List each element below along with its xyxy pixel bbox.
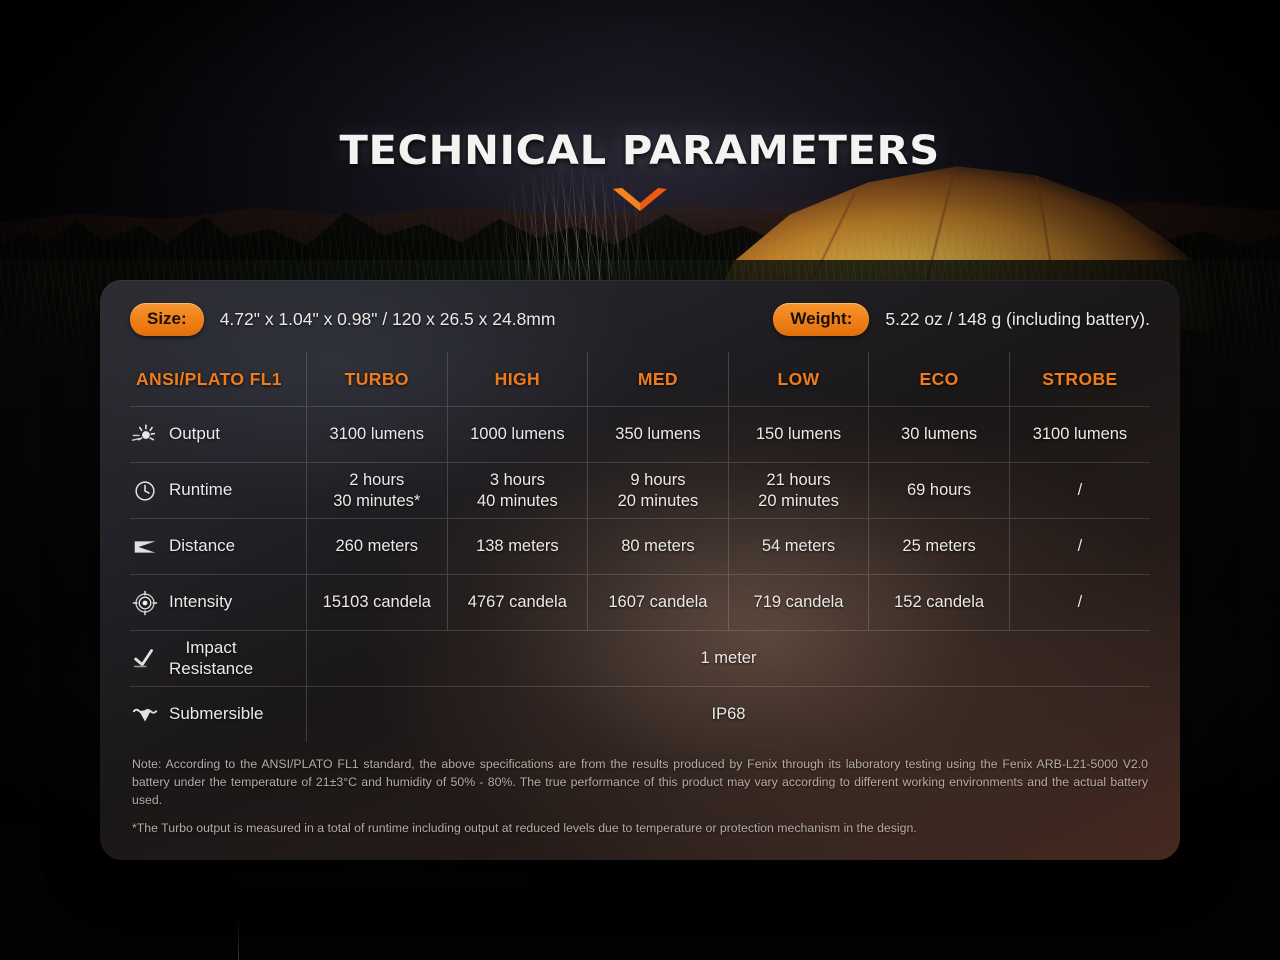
- row-label-text: Distance: [169, 536, 235, 557]
- row-label-impact-resistance: Impact Resistance: [130, 631, 306, 687]
- cell-intensity-high: 4767 candela: [447, 575, 588, 631]
- size-weight-strip: Size: 4.72" x 1.04" x 0.98" / 120 x 26.5…: [130, 280, 1150, 352]
- cell-distance-turbo: 260 meters: [306, 519, 447, 575]
- table-header-med: MED: [588, 352, 729, 407]
- table-row: Runtime 2 hours 30 minutes* 3 hours 40 m…: [130, 463, 1150, 519]
- beam-distance-icon: [130, 532, 160, 562]
- row-label-text: Runtime: [169, 480, 232, 501]
- table-header-low: LOW: [728, 352, 869, 407]
- cell-output-strobe: 3100 lumens: [1009, 407, 1150, 463]
- cell-intensity-eco: 152 candela: [869, 575, 1010, 631]
- note-main: Note: According to the ANSI/PLATO FL1 st…: [132, 756, 1148, 809]
- cell-intensity-med: 1607 candela: [588, 575, 729, 631]
- table-row: Impact Resistance 1 meter: [130, 631, 1150, 687]
- cell-distance-strobe: /: [1009, 519, 1150, 575]
- note-asterisk: *The Turbo output is measured in a total…: [132, 820, 1148, 838]
- cell-output-turbo: 3100 lumens: [306, 407, 447, 463]
- specs-panel: Size: 4.72" x 1.04" x 0.98" / 120 x 26.5…: [100, 280, 1180, 860]
- cell-distance-high: 138 meters: [447, 519, 588, 575]
- cell-submersible-value: IP68: [306, 687, 1150, 743]
- clock-icon: [130, 476, 160, 506]
- row-label-text: Intensity: [169, 592, 232, 613]
- size-spec: Size: 4.72" x 1.04" x 0.98" / 120 x 26.5…: [130, 303, 555, 336]
- table-header-row: ANSI/PLATO FL1 TURBO HIGH MED LOW ECO ST…: [130, 352, 1150, 407]
- impact-arrow-icon: [130, 644, 160, 674]
- weight-value: 5.22 oz / 148 g (including battery).: [885, 309, 1150, 330]
- row-label-text: Impact Resistance: [169, 638, 253, 679]
- row-label-intensity: Intensity: [130, 575, 306, 631]
- cell-output-med: 350 lumens: [588, 407, 729, 463]
- cell-distance-eco: 25 meters: [869, 519, 1010, 575]
- weight-spec: Weight: 5.22 oz / 148 g (including batte…: [773, 303, 1150, 336]
- cell-runtime-med: 9 hours 20 minutes: [588, 463, 729, 519]
- table-header-standard: ANSI/PLATO FL1: [130, 352, 306, 407]
- chevron-down-icon: [611, 186, 669, 216]
- target-intensity-icon: [130, 588, 160, 618]
- table-row: Submersible IP68: [130, 687, 1150, 743]
- row-label-output: Output: [130, 407, 306, 463]
- foreground-stalk: [238, 920, 239, 960]
- size-label-pill: Size:: [130, 303, 204, 336]
- cell-impact-resistance-value: 1 meter: [306, 631, 1150, 687]
- cell-runtime-strobe: /: [1009, 463, 1150, 519]
- weight-label-pill: Weight:: [773, 303, 869, 336]
- row-label-text: Output: [169, 424, 220, 445]
- row-label-submersible: Submersible: [130, 687, 306, 743]
- table-header-turbo: TURBO: [306, 352, 447, 407]
- row-label-runtime: Runtime: [130, 463, 306, 519]
- cell-output-high: 1000 lumens: [447, 407, 588, 463]
- row-label-distance: Distance: [130, 519, 306, 575]
- cell-runtime-eco: 69 hours: [869, 463, 1010, 519]
- cell-distance-med: 80 meters: [588, 519, 729, 575]
- size-value: 4.72" x 1.04" x 0.98" / 120 x 26.5 x 24.…: [220, 309, 556, 330]
- title-block: TECHNICAL PARAMETERS: [0, 128, 1280, 216]
- water-drop-icon: [130, 700, 160, 730]
- cell-intensity-turbo: 15103 candela: [306, 575, 447, 631]
- cell-runtime-high: 3 hours 40 minutes: [447, 463, 588, 519]
- cell-runtime-low: 21 hours 20 minutes: [728, 463, 869, 519]
- cell-runtime-turbo: 2 hours 30 minutes*: [306, 463, 447, 519]
- sun-burst-icon: [130, 420, 160, 450]
- table-row: Distance 260 meters 138 meters 80 meters…: [130, 519, 1150, 575]
- notes-block: Note: According to the ANSI/PLATO FL1 st…: [130, 742, 1150, 838]
- cell-distance-low: 54 meters: [728, 519, 869, 575]
- table-header-high: HIGH: [447, 352, 588, 407]
- page-title: TECHNICAL PARAMETERS: [340, 128, 940, 174]
- cell-intensity-strobe: /: [1009, 575, 1150, 631]
- cell-output-low: 150 lumens: [728, 407, 869, 463]
- table-header-strobe: STROBE: [1009, 352, 1150, 407]
- cell-intensity-low: 719 candela: [728, 575, 869, 631]
- row-label-text: Submersible: [169, 704, 264, 725]
- specifications-table: ANSI/PLATO FL1 TURBO HIGH MED LOW ECO ST…: [130, 352, 1150, 742]
- table-row: Intensity 15103 candela 4767 candela 160…: [130, 575, 1150, 631]
- cell-output-eco: 30 lumens: [869, 407, 1010, 463]
- table-row: Output 3100 lumens 1000 lumens 350 lumen…: [130, 407, 1150, 463]
- table-header-eco: ECO: [869, 352, 1010, 407]
